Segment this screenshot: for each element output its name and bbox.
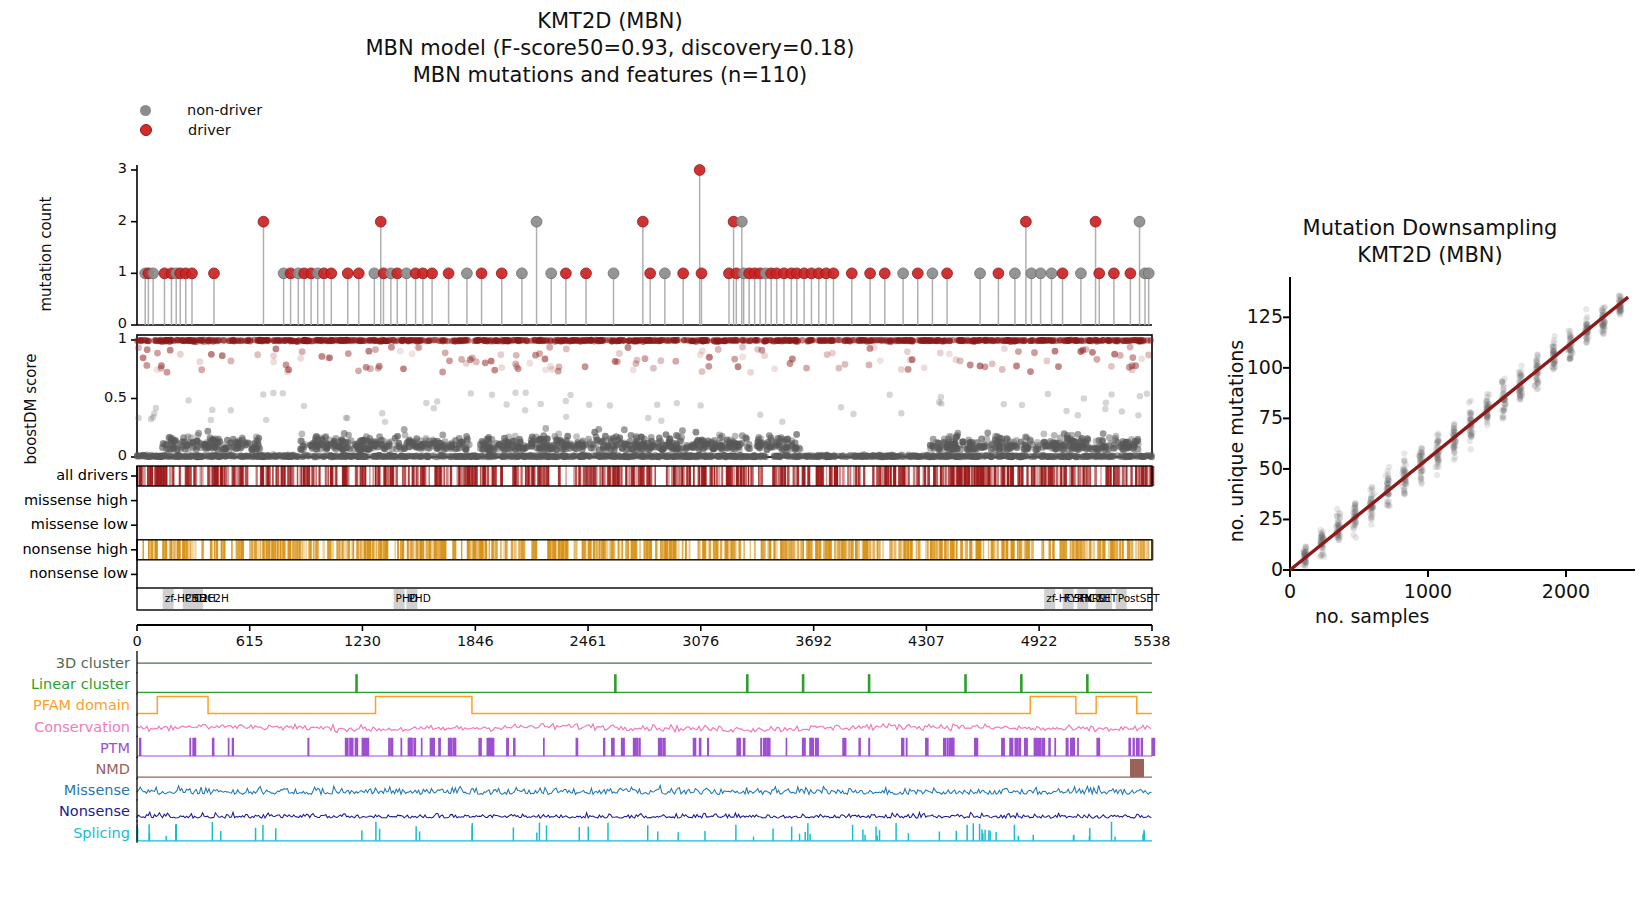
downsampling-x-tick-label: 1000 bbox=[1383, 580, 1473, 602]
x-axis-tick-label: 1846 bbox=[445, 633, 505, 649]
x-axis-tick-label: 0 bbox=[107, 633, 167, 649]
boostdm-tick-label: 1 bbox=[78, 330, 127, 346]
x-axis-tick-label: 1230 bbox=[332, 633, 392, 649]
mutation-count-tick-label: 1 bbox=[95, 263, 127, 279]
downsampling-y-tick-label: 0 bbox=[1225, 558, 1283, 580]
downsampling-x-tick-label: 0 bbox=[1245, 580, 1335, 602]
downsampling-y-tick-label: 25 bbox=[1225, 507, 1283, 529]
x-axis-tick-label: 3692 bbox=[784, 633, 844, 649]
mutation-count-tick-label: 2 bbox=[95, 212, 127, 228]
downsampling-y-tick-label: 100 bbox=[1225, 356, 1283, 378]
x-axis-tick-label: 5538 bbox=[1122, 633, 1182, 649]
mutation-count-tick-label: 0 bbox=[95, 315, 127, 331]
downsampling-tick-labels: 0255075100125010002000 bbox=[1195, 215, 1650, 645]
downsampling-x-tick-label: 2000 bbox=[1521, 580, 1611, 602]
boostdm-tick-label: 0.5 bbox=[78, 389, 127, 405]
downsampling-y-tick-label: 125 bbox=[1225, 305, 1283, 327]
x-axis-tick-label: 615 bbox=[220, 633, 280, 649]
downsampling-y-tick-label: 50 bbox=[1225, 457, 1283, 479]
mutation-count-tick-label: 3 bbox=[95, 160, 127, 176]
boostdm-tick-label: 0 bbox=[78, 447, 127, 463]
downsampling-panel: Mutation Downsampling KMT2D (MBN) no. un… bbox=[1195, 215, 1650, 645]
x-axis-tick-label: 4922 bbox=[1009, 633, 1069, 649]
x-axis-tick-label: 2461 bbox=[558, 633, 618, 649]
x-axis-tick-label: 3076 bbox=[671, 633, 731, 649]
downsampling-y-tick-label: 75 bbox=[1225, 406, 1283, 428]
x-axis-tick-label: 4307 bbox=[896, 633, 956, 649]
axis-tick-labels: 0615123018462461307636924307492255380123… bbox=[0, 0, 1200, 905]
